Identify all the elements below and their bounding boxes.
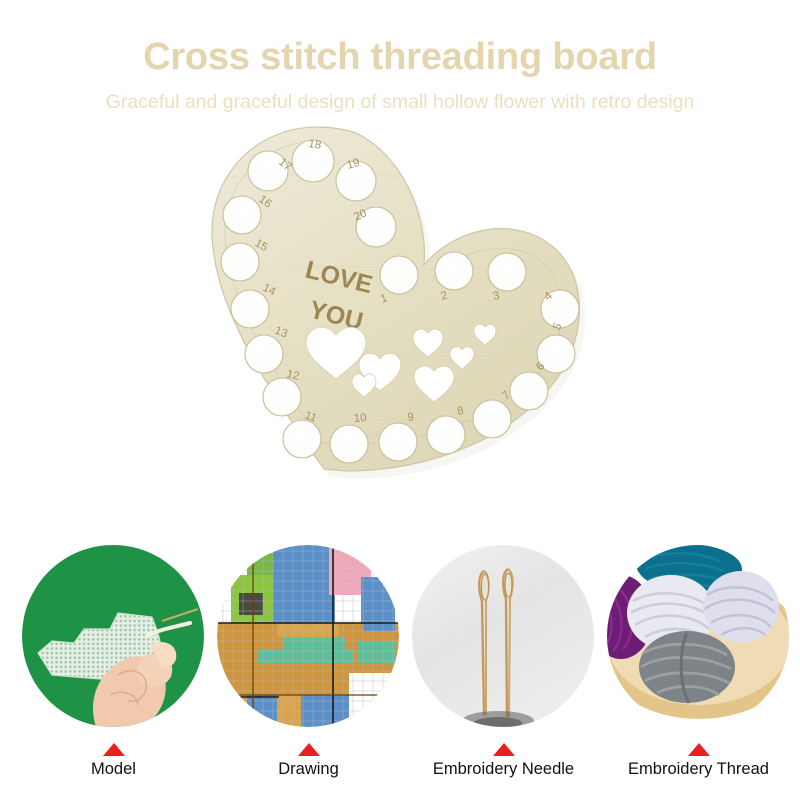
hand-holding-canvas-illustration	[22, 545, 204, 727]
thumbnail-image-needle[interactable]	[412, 545, 594, 727]
thumbnail-caption: Embroidery Thread	[601, 760, 796, 779]
pointer-arrow-icon	[493, 743, 515, 756]
cross-stitch-chart-illustration	[217, 545, 399, 727]
header: Cross stitch threading board Graceful an…	[0, 0, 800, 113]
yarn-white-right	[703, 571, 779, 643]
heart-board-illustration: 1 2 3 4 5 6 7 8 9 10 11 12 13 14 15 16 1…	[196, 119, 596, 484]
thumbnail-item-thread[interactable]: Embroidery Thread	[601, 545, 796, 800]
svg-text:18: 18	[308, 138, 322, 152]
tapestry-needles-illustration	[412, 545, 594, 727]
page-title: Cross stitch threading board	[0, 38, 800, 78]
yarn-grey	[639, 631, 735, 703]
chart-cells	[217, 545, 399, 727]
thumbnail-item-drawing[interactable]: Drawing	[211, 545, 406, 800]
pointer-arrow-icon	[298, 743, 320, 756]
thumbnail-image-model[interactable]	[22, 545, 204, 727]
thumbnail-caption: Drawing	[211, 760, 406, 779]
page-subtitle: Graceful and graceful design of small ho…	[0, 92, 800, 113]
pointer-arrow-icon	[688, 743, 710, 756]
hero-section: 1 2 3 4 5 6 7 8 9 10 11 12 13 14 15 16 1…	[0, 113, 800, 493]
thumbnail-image-drawing[interactable]	[217, 545, 399, 727]
yarn-balls-illustration	[607, 545, 789, 727]
thumbnail-item-model[interactable]: Model	[16, 545, 211, 800]
thumbnail-caption: Model	[16, 760, 211, 779]
feature-thumbnail-strip: Model	[0, 545, 800, 800]
thumbnail-image-thread[interactable]	[607, 545, 789, 727]
pointer-arrow-icon	[103, 743, 125, 756]
heart-threading-board: 1 2 3 4 5 6 7 8 9 10 11 12 13 14 15 16 1…	[196, 119, 596, 484]
svg-text:10: 10	[353, 412, 367, 425]
thumbnail-item-needle[interactable]: Embroidery Needle	[406, 545, 601, 800]
thumbnail-caption: Embroidery Needle	[406, 760, 601, 779]
